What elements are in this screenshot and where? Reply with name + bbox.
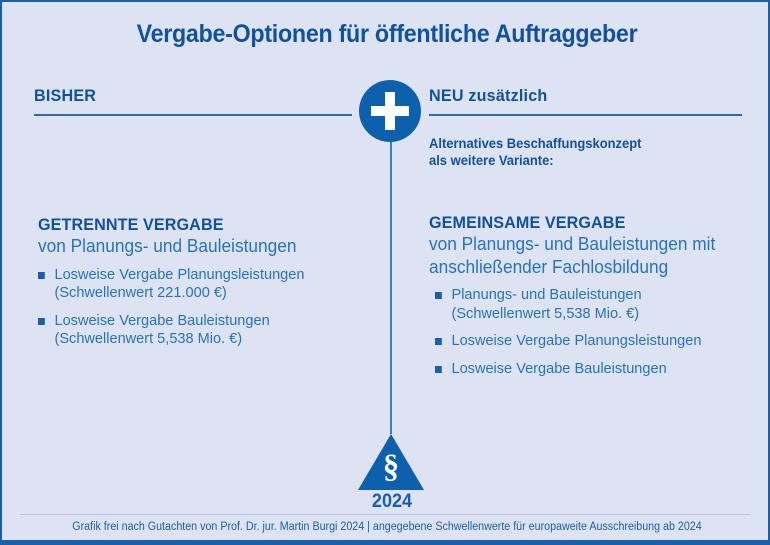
footer-source-note: Grafik frei nach Gutachten von Prof. Dr.…: [29, 521, 745, 533]
plus-icon: [359, 80, 421, 142]
right-scheme-title: GEMEINSAME VERGABE: [429, 212, 733, 233]
column-rule-right: [429, 114, 742, 116]
vertical-connector-line: [390, 142, 392, 434]
year-label: 2024: [345, 491, 440, 513]
square-bullet-icon: [38, 272, 45, 279]
list-item: Losweise Vergabe Planungsleistungen: [435, 332, 740, 351]
right-column-note: Alternatives Beschaffungskonzept als wei…: [429, 135, 727, 169]
left-column-content: GETRENNTE VERGABE von Planungs- und Baul…: [38, 214, 388, 349]
note-line-2: als weitere Variante:: [429, 152, 727, 169]
list-item: Losweise Vergabe Bauleistungen: [435, 360, 740, 379]
list-item-line2: (Schwellenwert 5,538 Mio. €): [451, 305, 739, 324]
list-item-line1: Planungs- und Bauleistungen: [451, 286, 641, 303]
list-item: Planungs- und Bauleistungen (Schwellenwe…: [435, 286, 740, 323]
right-bullet-list: Planungs- und Bauleistungen (Schwellenwe…: [435, 286, 749, 378]
column-header-neu: NEU zusätzlich: [429, 86, 547, 106]
square-bullet-icon: [435, 338, 442, 345]
right-scheme-subtitle: von Planungs- und Bauleistungen mit ansc…: [429, 233, 736, 278]
list-item-line1: Losweise Vergabe Planungsleistungen: [451, 332, 701, 349]
right-column-content: GEMEINSAME VERGABE von Planungs- und Bau…: [429, 212, 749, 378]
footer-divider: [20, 514, 750, 515]
paragraph-symbol: §: [358, 448, 424, 486]
left-scheme-subtitle: von Planungs- und Bauleistungen: [38, 235, 374, 258]
square-bullet-icon: [435, 292, 442, 299]
paragraph-triangle-icon: §: [358, 434, 424, 490]
list-item: Losweise Vergabe Bauleistungen (Schwelle…: [38, 312, 378, 349]
note-line-1: Alternatives Beschaffungskonzept: [429, 135, 727, 152]
page-title: Vergabe-Optionen für öffentliche Auftrag…: [29, 20, 745, 49]
list-item-line1: Losweise Vergabe Bauleistungen: [451, 360, 666, 377]
left-bullet-list: Losweise Vergabe Planungsleistungen (Sch…: [38, 266, 388, 349]
list-item-line2: (Schwellenwert 5,538 Mio. €): [54, 330, 377, 349]
list-item-line1: Losweise Vergabe Bauleistungen: [54, 312, 269, 329]
square-bullet-icon: [435, 366, 442, 373]
left-scheme-title: GETRENNTE VERGABE: [38, 214, 371, 235]
list-item-line1: Losweise Vergabe Planungsleistungen: [54, 266, 304, 283]
list-item: Losweise Vergabe Planungsleistungen (Sch…: [38, 266, 378, 303]
infographic-canvas: Vergabe-Optionen für öffentliche Auftrag…: [0, 0, 770, 545]
square-bullet-icon: [38, 318, 45, 325]
list-item-line2: (Schwellenwert 221.000 €): [54, 284, 377, 303]
column-rule-left: [34, 114, 352, 116]
plus-icon-vertical-bar: [385, 92, 395, 130]
column-header-bisher: BISHER: [34, 86, 96, 106]
